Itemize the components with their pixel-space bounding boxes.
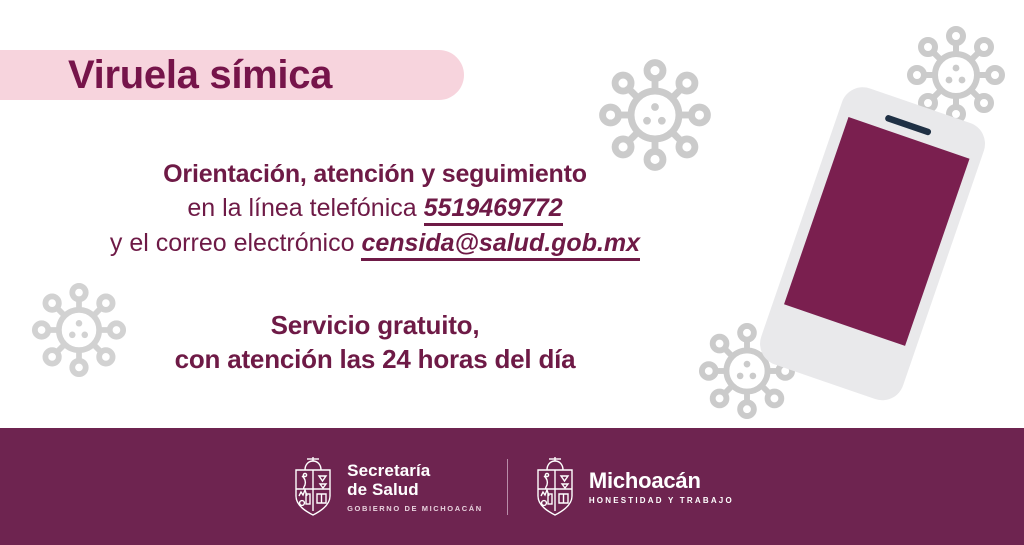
- email-address[interactable]: censida@salud.gob.mx: [361, 229, 640, 261]
- virus-icon: [598, 58, 712, 172]
- service-line-1: Servicio gratuito,: [10, 308, 740, 342]
- contact-info-block: Orientación, atención y seguimiento en l…: [10, 158, 740, 261]
- service-info-block: Servicio gratuito, con atención las 24 h…: [10, 308, 740, 376]
- michoacan-coat-of-arms-shield-icon: [290, 456, 336, 518]
- michoacan-coat-of-arms-shield-icon: [532, 456, 578, 518]
- footer-band: Secretaría de Salud GOBIERNO DE MICHOACÁ…: [0, 428, 1024, 545]
- michoacan-subtitle: HONESTIDAD Y TRABAJO: [589, 496, 734, 505]
- email-line-prefix: y el correo electrónico: [110, 229, 355, 257]
- email-line: y el correo electrónico censida@salud.go…: [10, 226, 740, 261]
- service-line-2: con atención las 24 horas del día: [10, 342, 740, 376]
- footer-divider: [507, 459, 508, 515]
- secretaria-de-salud-logo: Secretaría de Salud GOBIERNO DE MICHOACÁ…: [290, 456, 483, 518]
- phone-line-prefix: en la línea telefónica: [187, 194, 416, 222]
- salud-subtitle: GOBIERNO DE MICHOACÁN: [347, 504, 483, 513]
- phone-line: en la línea telefónica 5519469772: [10, 191, 740, 226]
- poster-canvas: Viruela símica Orientación, atención y s…: [0, 0, 1024, 545]
- contact-heading: Orientación, atención y seguimiento: [10, 158, 740, 191]
- smartphone-illustration: [735, 75, 1005, 415]
- michoacan-title: Michoacán: [589, 469, 734, 493]
- phone-number[interactable]: 5519469772: [424, 194, 563, 226]
- page-title: Viruela símica: [68, 47, 448, 103]
- phone-screen: [784, 117, 969, 346]
- salud-title-line-2: de Salud: [347, 480, 483, 499]
- michoacan-logo: Michoacán HONESTIDAD Y TRABAJO: [532, 456, 734, 518]
- salud-title-line-1: Secretaría: [347, 461, 483, 480]
